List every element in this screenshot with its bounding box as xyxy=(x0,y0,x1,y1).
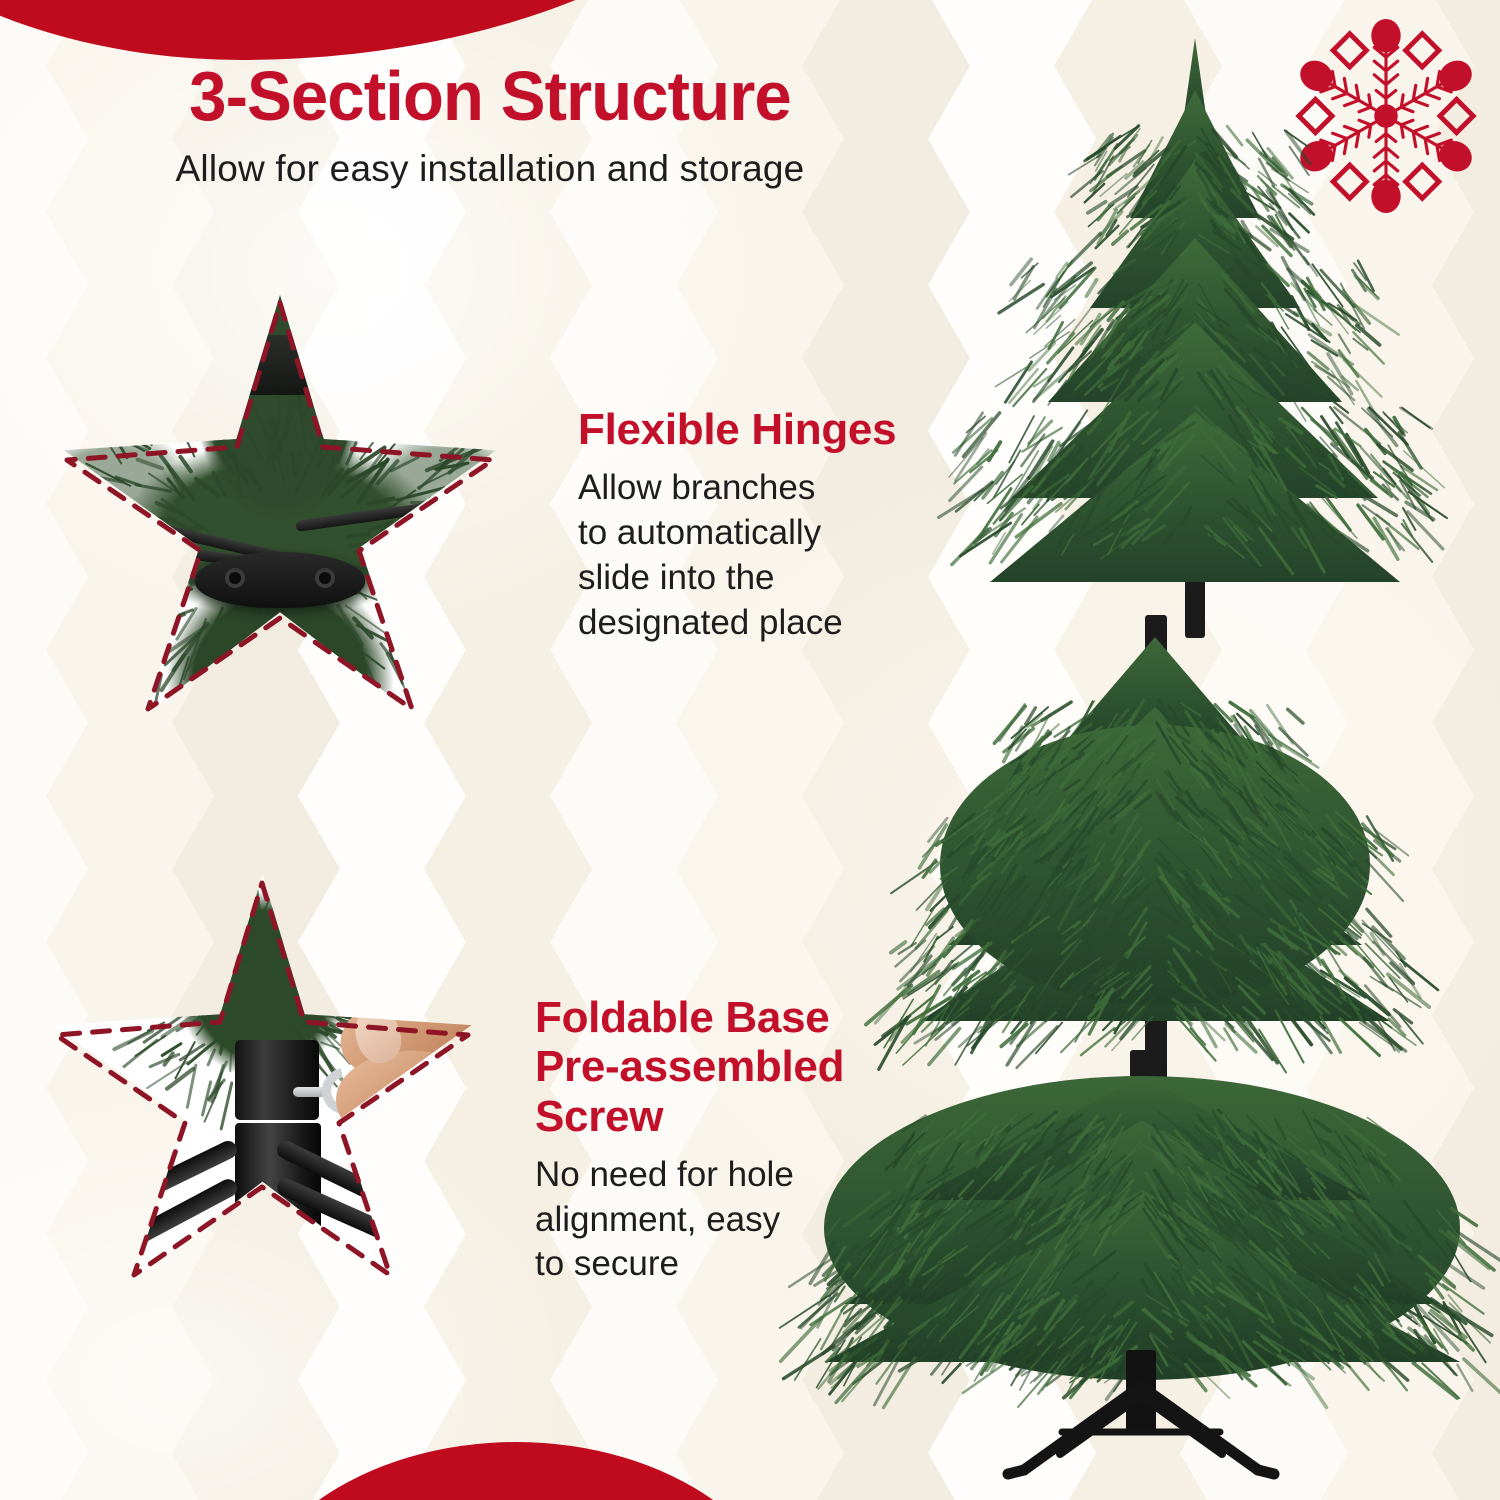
pine-needle xyxy=(325,384,346,424)
foldable-base-body: No need for hole alignment, easy to secu… xyxy=(535,1153,844,1287)
pine-needle xyxy=(339,397,357,433)
pine-needle xyxy=(235,654,248,691)
flexible-hinges-text: Flexible Hinges Allow branches to automa… xyxy=(578,405,896,645)
pine-needle xyxy=(139,951,179,974)
pine-needle xyxy=(290,970,321,983)
pine-needle xyxy=(390,525,436,529)
pine-needle xyxy=(424,595,475,601)
pine-needle xyxy=(297,885,320,917)
pine-needle xyxy=(261,622,269,677)
pine-needle xyxy=(174,913,200,936)
pine-needle xyxy=(133,384,167,436)
base-photo-star-frame xyxy=(40,875,485,1310)
pine-needle xyxy=(273,880,282,923)
tree-frond xyxy=(1005,259,1037,285)
pine-needle xyxy=(378,561,399,576)
pine-needle xyxy=(420,602,474,608)
pine-needle xyxy=(117,1003,154,1017)
pine-needle xyxy=(340,389,364,432)
pine-needle xyxy=(178,985,219,994)
pine-needle xyxy=(235,893,239,931)
pine-needle xyxy=(295,930,321,961)
pine-needle xyxy=(315,1000,344,1013)
pine-needle xyxy=(117,530,142,537)
tree-pole-upper xyxy=(235,1040,319,1120)
pine-needle xyxy=(221,907,236,953)
pine-needle xyxy=(151,933,197,959)
pine-needle xyxy=(248,696,266,745)
pine-needle xyxy=(342,914,365,945)
pine-needle xyxy=(383,575,430,619)
pine-needle xyxy=(403,571,460,586)
pine-needle xyxy=(155,999,196,1015)
pine-needle xyxy=(197,924,225,968)
pine-needle xyxy=(303,982,333,986)
feature-foldable-base: Foldable Base Pre-assembled Screw No nee… xyxy=(40,875,844,1310)
pine-needle xyxy=(212,382,226,443)
pine-needle xyxy=(288,926,302,963)
pine-needle xyxy=(176,1001,216,1006)
pine-needle xyxy=(132,970,173,975)
pine-needle xyxy=(134,404,147,427)
tree-section-middle xyxy=(890,615,1420,1085)
pine-needle xyxy=(119,582,173,615)
pine-needle xyxy=(472,520,510,528)
hinge-photo-star-frame xyxy=(50,295,510,745)
pine-needle xyxy=(310,916,350,950)
infographic-canvas: 3-Section Structure Allow for easy insta… xyxy=(0,0,1500,1500)
tree-frond xyxy=(887,862,942,894)
pine-needle xyxy=(298,676,305,737)
pine-needle xyxy=(428,494,468,500)
pine-needle xyxy=(314,952,346,976)
pine-needle xyxy=(135,938,166,964)
pine-needle xyxy=(169,965,206,985)
pine-needle xyxy=(306,947,352,964)
hinge-mechanism-photo xyxy=(50,295,510,745)
pine-needle xyxy=(323,916,334,936)
pine-needle xyxy=(405,644,433,663)
pine-needle xyxy=(195,930,209,961)
page-title: 3-Section Structure xyxy=(20,60,961,134)
tree-frond xyxy=(870,1358,927,1408)
pine-needle xyxy=(139,901,182,932)
pine-needle xyxy=(392,605,433,637)
pine-needle xyxy=(187,408,218,437)
pine-needle xyxy=(117,978,160,981)
pine-needle xyxy=(223,697,226,745)
pine-needle xyxy=(126,602,148,616)
tree-frond xyxy=(996,416,1046,462)
pine-needle xyxy=(347,939,379,958)
pine-needle xyxy=(223,664,245,714)
pine-needle xyxy=(106,507,146,528)
pine-needle xyxy=(191,923,218,962)
pine-needle xyxy=(288,887,305,924)
tree-frond xyxy=(1223,126,1247,145)
pine-needle xyxy=(295,958,344,978)
pine-needle xyxy=(225,887,228,937)
tree-section-bottom xyxy=(810,1050,1470,1490)
pine-needle xyxy=(435,522,478,538)
header: 3-Section Structure Allow for easy insta… xyxy=(0,60,980,190)
pine-needle xyxy=(144,968,174,984)
pine-needle xyxy=(123,618,153,650)
pine-needle xyxy=(165,551,199,558)
pine-needle xyxy=(297,999,347,1006)
pine-needle xyxy=(310,675,324,723)
pine-needle xyxy=(423,575,483,592)
pine-needle xyxy=(472,541,510,545)
pine-needle xyxy=(404,571,456,577)
pine-needle xyxy=(438,607,489,638)
pine-needle xyxy=(156,911,174,939)
pine-needle xyxy=(162,546,193,556)
flexible-hinges-body: Allow branches to automatically slide in… xyxy=(578,466,896,645)
tree-frond xyxy=(1285,709,1305,723)
pine-needle xyxy=(192,373,204,438)
pine-needle xyxy=(96,549,134,568)
pine-needle xyxy=(235,904,241,949)
tree-frond xyxy=(1302,264,1353,306)
pine-needle xyxy=(338,937,354,958)
foldable-base-text: Foldable Base Pre-assembled Screw No nee… xyxy=(535,993,844,1287)
pine-needle xyxy=(191,991,215,1001)
pine-needle xyxy=(60,487,99,490)
tree-frond xyxy=(1390,433,1431,469)
pine-needle xyxy=(216,875,232,907)
pine-needle xyxy=(215,923,231,950)
pine-needle xyxy=(294,954,341,973)
pine-needle xyxy=(236,665,239,689)
pine-needle xyxy=(128,566,163,583)
pine-needle xyxy=(68,569,100,579)
pine-needle xyxy=(276,902,305,936)
pine-needle xyxy=(68,569,93,578)
pine-needle xyxy=(406,423,442,441)
pine-needle xyxy=(364,994,398,1001)
pine-needle xyxy=(50,472,94,506)
pine-needle xyxy=(107,579,127,595)
pine-needle xyxy=(130,971,151,977)
pine-needle xyxy=(319,931,344,966)
pine-needle xyxy=(186,996,208,1000)
pine-needle xyxy=(65,580,113,590)
pine-needle xyxy=(173,966,209,982)
pine-needle xyxy=(308,914,326,940)
pine-needle xyxy=(78,584,125,591)
tree-frond xyxy=(1040,702,1074,720)
pine-needle xyxy=(303,1000,337,1011)
pine-needle xyxy=(149,999,174,1009)
pine-needle xyxy=(117,650,141,683)
pine-needle xyxy=(150,952,188,967)
tree-frond xyxy=(1357,958,1393,986)
pine-needle xyxy=(221,877,231,908)
pine-needle xyxy=(410,668,433,682)
pine-needle xyxy=(168,402,190,425)
pine-needle xyxy=(347,950,391,976)
pine-needle xyxy=(205,922,214,939)
pine-needle xyxy=(338,696,345,735)
pine-needle xyxy=(278,898,285,942)
pine-needle xyxy=(105,398,145,441)
pine-needle xyxy=(122,665,147,724)
pine-needle xyxy=(407,513,436,522)
pine-needle xyxy=(172,988,216,993)
pine-needle xyxy=(215,909,225,954)
pine-needle xyxy=(318,995,353,1011)
pine-needle xyxy=(343,667,360,709)
pine-needle xyxy=(219,1081,233,1130)
pine-needle xyxy=(139,940,159,960)
pine-needle xyxy=(241,681,250,723)
pine-needle xyxy=(315,397,352,446)
tree-frond xyxy=(1283,1361,1338,1408)
pine-needle xyxy=(126,583,175,617)
pine-needle xyxy=(99,664,146,697)
pine-needle xyxy=(128,961,174,976)
pine-needle xyxy=(393,388,435,423)
pine-needle xyxy=(390,612,411,628)
pine-needle xyxy=(120,979,142,987)
pine-needle xyxy=(83,410,136,433)
pine-needle xyxy=(58,490,122,506)
pine-needle xyxy=(298,950,342,978)
pine-needle xyxy=(103,645,125,667)
tree-frond xyxy=(1398,408,1435,429)
pine-needle xyxy=(124,609,148,626)
pine-needle xyxy=(308,635,313,699)
pine-needle xyxy=(89,600,130,603)
pine-needle xyxy=(323,931,365,953)
pine-needle xyxy=(302,685,309,722)
pine-needle xyxy=(379,523,415,527)
pine-needle xyxy=(297,992,325,998)
pine-needle xyxy=(364,552,388,560)
tree-frond xyxy=(1117,139,1136,152)
hinge-hub xyxy=(195,552,365,608)
pine-needle xyxy=(150,557,192,573)
pine-needle xyxy=(221,656,243,690)
pine-needle xyxy=(178,893,209,931)
pine-needle xyxy=(317,930,350,955)
foldable-base-photo xyxy=(40,875,485,1310)
pine-needle xyxy=(316,660,325,692)
pine-needle xyxy=(207,380,218,407)
tree-frond xyxy=(1066,155,1103,175)
tree-frond xyxy=(1310,340,1339,355)
pine-needle xyxy=(440,561,493,565)
pine-needle xyxy=(304,980,321,987)
pine-needle xyxy=(295,644,312,697)
pine-needle xyxy=(276,692,291,745)
pine-needle xyxy=(195,961,221,975)
pine-needle xyxy=(407,550,466,560)
pine-needle xyxy=(273,625,282,673)
pine-needle xyxy=(89,616,108,635)
tree-frond xyxy=(1284,189,1319,214)
pine-needle xyxy=(74,571,109,591)
pine-needle xyxy=(375,581,421,617)
pine-needle xyxy=(118,638,144,684)
flexible-hinges-heading: Flexible Hinges xyxy=(578,405,896,454)
pine-needle xyxy=(285,886,313,920)
pine-needle xyxy=(92,623,147,650)
pine-needle xyxy=(344,364,354,419)
pine-needle xyxy=(305,903,311,925)
pine-needle xyxy=(304,910,322,932)
pine-needle xyxy=(174,545,200,554)
pine-needle xyxy=(314,646,319,703)
pine-needle xyxy=(396,625,421,648)
pine-needle xyxy=(311,664,319,699)
pine-needle xyxy=(130,539,171,544)
pine-needle xyxy=(217,669,227,706)
feature-flexible-hinges: Flexible Hinges Allow branches to automa… xyxy=(50,295,896,745)
pine-needle xyxy=(304,696,310,719)
pine-needle xyxy=(373,402,419,436)
pine-needle xyxy=(333,387,351,407)
pine-needle xyxy=(390,558,440,565)
pine-needle xyxy=(439,603,505,607)
pine-needle xyxy=(219,683,230,721)
pine-needle xyxy=(263,663,272,689)
pine-needle xyxy=(425,641,458,655)
foldable-base-heading: Foldable Base Pre-assembled Screw xyxy=(535,993,844,1141)
pine-needle xyxy=(215,941,235,972)
pine-needle xyxy=(335,381,347,408)
pine-needle xyxy=(292,986,324,996)
pine-needle xyxy=(470,501,510,506)
tree-pole-lower xyxy=(235,1123,321,1233)
pine-needle xyxy=(181,928,203,961)
page-subtitle: Allow for easy installation and storage xyxy=(0,148,980,190)
tree-section-top xyxy=(960,30,1430,655)
pine-needle xyxy=(347,959,387,970)
pine-needle xyxy=(394,575,440,579)
pine-needle xyxy=(82,538,116,544)
pine-needle xyxy=(287,919,325,955)
pine-needle xyxy=(72,549,118,566)
pine-needle xyxy=(271,625,281,647)
pine-needle xyxy=(375,554,399,562)
pine-needle xyxy=(189,688,200,719)
pine-needle xyxy=(122,637,152,680)
pine-needle xyxy=(353,983,397,998)
pine-needle xyxy=(288,665,300,710)
pine-needle xyxy=(78,573,109,590)
pine-needle xyxy=(448,486,482,494)
pine-needle xyxy=(315,681,319,745)
tree-frond xyxy=(1334,335,1355,353)
pine-needle xyxy=(140,967,171,984)
pine-needle xyxy=(375,417,399,436)
pine-needle xyxy=(225,916,234,964)
pine-needle xyxy=(193,967,208,982)
pine-needle xyxy=(392,409,427,434)
pine-needle xyxy=(424,599,453,604)
pine-needle xyxy=(472,541,507,550)
pine-needle xyxy=(127,386,154,447)
pine-needle xyxy=(156,375,179,412)
pine-needle xyxy=(231,657,257,699)
